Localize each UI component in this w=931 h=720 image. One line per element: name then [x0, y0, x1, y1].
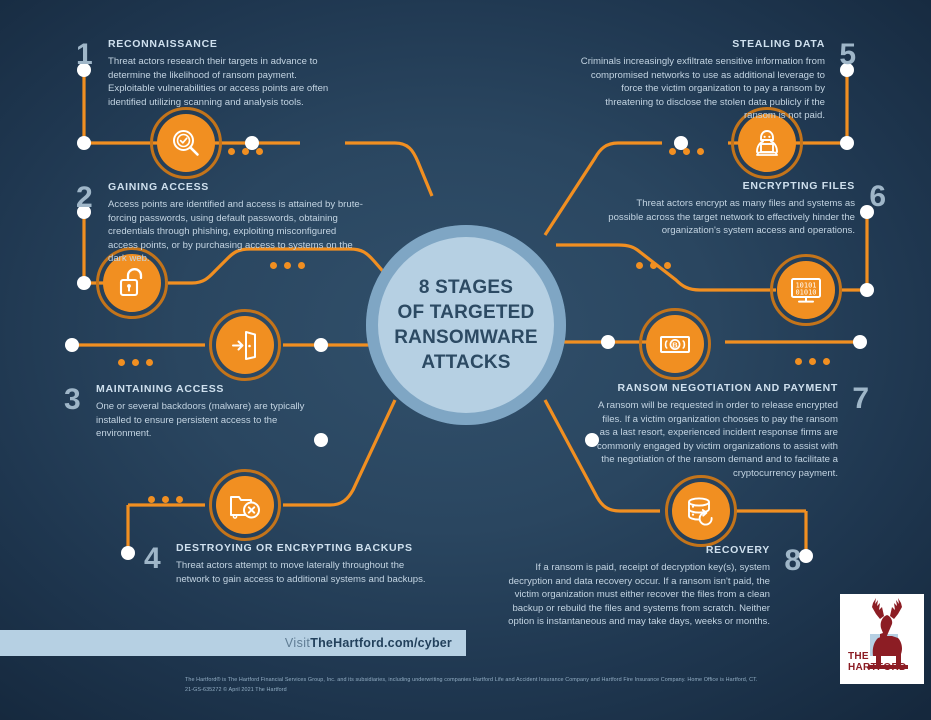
hartford-logo[interactable]: THE HARTFORD — [840, 594, 924, 684]
infographic-canvas: .w { fill:none; stroke:#f18f21; stroke-w… — [0, 0, 931, 720]
stage-node-6[interactable]: 10101 01010 — [770, 254, 842, 326]
stage-body-1: Threat actors research their targets in … — [108, 55, 346, 109]
hub-line-2: OF TARGETED — [394, 300, 537, 325]
hub-line-4: ATTACKS — [394, 350, 537, 375]
stage-number-7: 7 — [852, 384, 868, 414]
visit-bar: Visit TheHartford.com/cyber — [0, 630, 466, 656]
stage-text-5: 5 STEALING DATA Criminals increasingly e… — [575, 38, 855, 123]
folder-delete-icon — [216, 476, 274, 534]
legal-line-2: 21-GS-635272 © April 2021 The Hartford — [185, 686, 805, 696]
stage-body-4: Threat actors attempt to move laterally … — [176, 559, 434, 586]
stage-text-7: 7 RANSOM NEGOTIATION AND PAYMENT A ranso… — [590, 382, 868, 481]
stage-node-4[interactable] — [209, 469, 281, 541]
stage-number-5: 5 — [839, 40, 855, 70]
magnifier-check-icon — [157, 114, 215, 172]
stage-node-7[interactable]: B — [639, 308, 711, 380]
stage-number-3: 3 — [64, 385, 80, 415]
stage-node-1[interactable] — [150, 107, 222, 179]
stage-body-7: A ransom will be requested in order to r… — [590, 399, 838, 481]
stage-number-6: 6 — [869, 182, 885, 212]
legal-line-1: The Hartford® is The Hartford Financial … — [185, 676, 805, 686]
dot-group-6 — [636, 262, 671, 269]
dot-group-4 — [148, 496, 183, 503]
stage-number-1: 1 — [76, 40, 92, 70]
stage-number-2: 2 — [76, 183, 92, 213]
dot-group-7 — [795, 358, 830, 365]
stage-body-8: If a ransom is paid, receipt of decrypti… — [490, 561, 770, 629]
stage-text-6: 6 ENCRYPTING FILES Threat actors encrypt… — [605, 180, 885, 238]
dot-group-1 — [228, 148, 263, 155]
stage-text-3: 3 MAINTAINING ACCESS One or several back… — [64, 383, 314, 441]
hub-circle: 8 STAGES OF TARGETED RANSOMWARE ATTACKS — [378, 237, 554, 413]
stage-title-4: DESTROYING OR ENCRYPTING BACKUPS — [176, 542, 434, 554]
stage-text-8: 8 RECOVERY If a ransom is paid, receipt … — [490, 544, 800, 629]
stage-body-6: Threat actors encrypt as many files and … — [605, 197, 855, 238]
stage-title-7: RANSOM NEGOTIATION AND PAYMENT — [590, 382, 838, 394]
legal-text: The Hartford® is The Hartford Financial … — [185, 676, 805, 695]
database-restore-icon — [672, 482, 730, 540]
visit-url[interactable]: TheHartford.com/cyber — [310, 636, 452, 650]
stage-node-3[interactable] — [209, 309, 281, 381]
bitcoin-banknote-icon: B — [646, 315, 704, 373]
stage-title-3: MAINTAINING ACCESS — [96, 383, 314, 395]
logo-line-2: HARTFORD — [848, 662, 907, 673]
stage-number-8: 8 — [784, 546, 800, 576]
stage-body-2: Access points are identified and access … — [108, 198, 364, 266]
stage-text-2: 2 GAINING ACCESS Access points are ident… — [76, 181, 364, 266]
stage-body-3: One or several backdoors (malware) are t… — [96, 400, 314, 441]
logo-line-1: THE — [848, 651, 907, 662]
svg-text:B: B — [672, 340, 678, 349]
stage-body-5: Criminals increasingly exfiltrate sensit… — [575, 55, 825, 123]
stage-title-2: GAINING ACCESS — [108, 181, 364, 193]
svg-text:01010: 01010 — [795, 288, 816, 296]
stage-title-6: ENCRYPTING FILES — [605, 180, 855, 192]
stage-node-8[interactable] — [665, 475, 737, 547]
stage-title-8: RECOVERY — [490, 544, 770, 556]
hub-line-3: RANSOMWARE — [394, 325, 537, 350]
visit-prefix: Visit — [285, 636, 310, 650]
stage-number-4: 4 — [144, 544, 160, 574]
stage-text-1: 1 RECONNAISSANCE Threat actors research … — [76, 38, 346, 109]
dot-group-5 — [669, 148, 704, 155]
door-entry-icon — [216, 316, 274, 374]
stage-title-5: STEALING DATA — [575, 38, 825, 50]
stage-text-4: 4 DESTROYING OR ENCRYPTING BACKUPS Threa… — [144, 542, 434, 586]
monitor-binary-icon: 10101 01010 — [777, 261, 835, 319]
hub-line-1: 8 STAGES — [394, 275, 537, 300]
dot-group-3 — [118, 359, 153, 366]
stage-title-1: RECONNAISSANCE — [108, 38, 346, 50]
